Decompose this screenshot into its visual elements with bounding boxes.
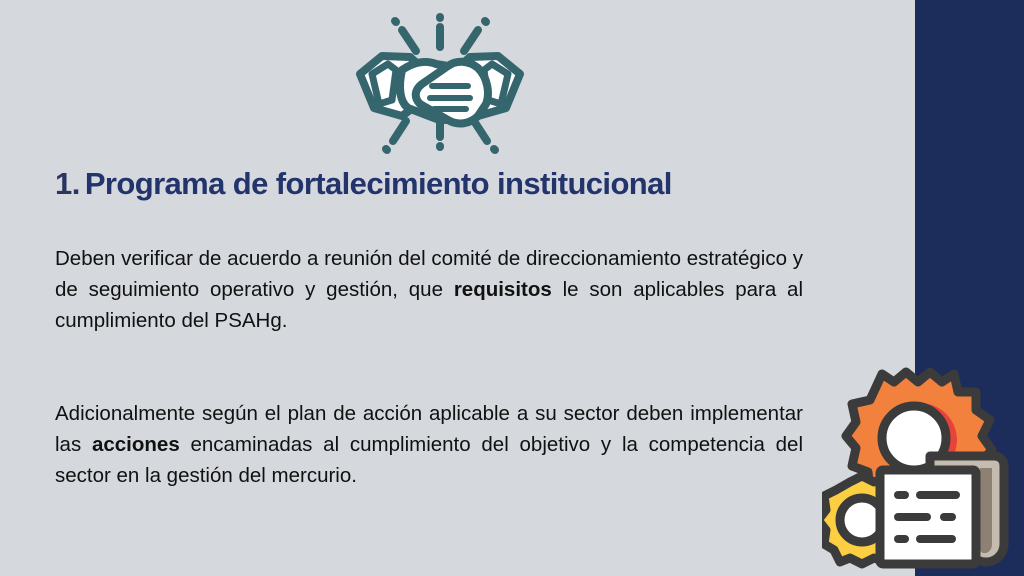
- handshake-icon: [352, 8, 528, 156]
- heading-title-text: Programa de fortalecimiento instituciona…: [85, 166, 672, 202]
- heading-number: 1.: [55, 166, 80, 202]
- paragraph-1-bold-requisitos: requisitos: [454, 278, 552, 301]
- body-paragraph-2: Adicionalmente según el plan de acción a…: [55, 398, 803, 491]
- page-title: 1. Programa de fortalecimiento instituci…: [55, 166, 815, 202]
- document-sheet-icon: [880, 470, 976, 564]
- slide-canvas: 1. Programa de fortalecimiento instituci…: [0, 0, 1024, 576]
- body-paragraph-1: Deben verificar de acuerdo a reunión del…: [55, 243, 803, 336]
- gears-document-icon: [822, 358, 1022, 576]
- paragraph-2-bold-acciones: acciones: [92, 433, 180, 456]
